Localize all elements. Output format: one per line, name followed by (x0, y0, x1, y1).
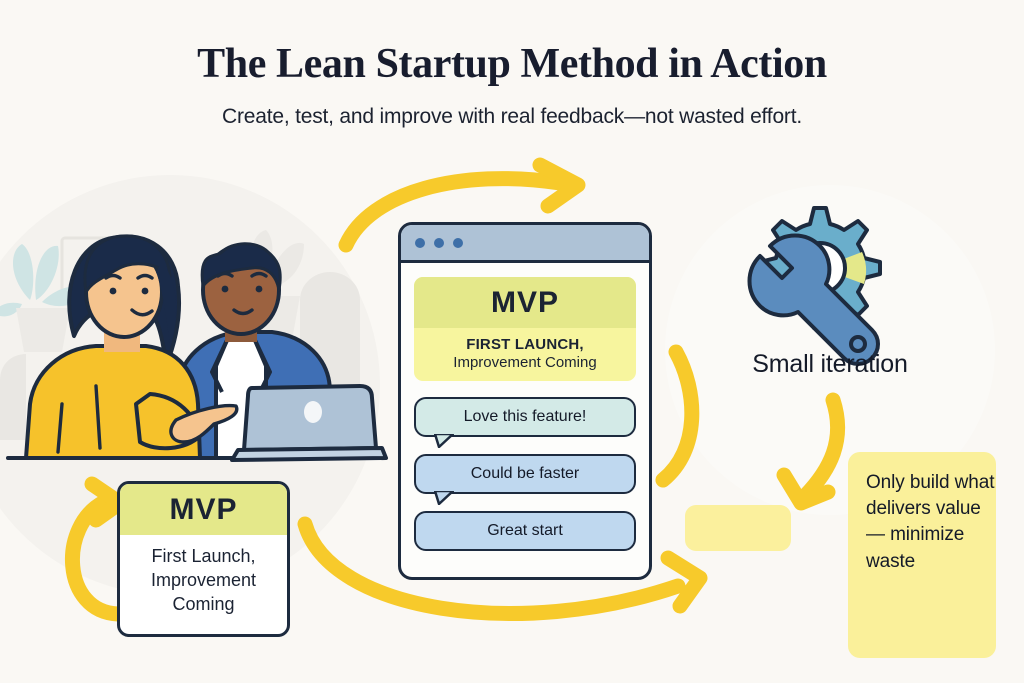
placeholder-yellow-box (685, 505, 791, 551)
gear-wrench-icon (750, 208, 881, 364)
feedback-bubble-list: Love this feature! Could be faster Great… (414, 397, 636, 551)
bubble-tail-icon (434, 434, 454, 448)
infographic-canvas: The Lean Startup Method in Action Create… (0, 0, 1024, 683)
mvp-card-body: First Launch, Improvement Coming (120, 535, 287, 616)
mvp-card-heading: MVP (120, 484, 287, 535)
browser-title-bar (401, 225, 649, 263)
feedback-bubble-text: Love this feature! (464, 408, 587, 425)
window-dot-1 (415, 238, 425, 248)
browser-window-mockup: MVP FIRST LAUNCH, Improvement Coming Lov… (398, 222, 652, 580)
laptop-icon (232, 386, 386, 460)
mvp-banner-line2: Improvement Coming (414, 353, 636, 381)
small-iteration-label: Small iteration (665, 350, 995, 379)
mvp-card: MVP First Launch, Improvement Coming (117, 481, 290, 637)
mvp-banner-line1: FIRST LAUNCH, (414, 328, 636, 353)
mvp-banner: MVP FIRST LAUNCH, Improvement Coming (414, 277, 636, 381)
feedback-bubble: Could be faster (414, 454, 636, 494)
arrow-iteration-to-note (784, 400, 838, 503)
feedback-bubble-text: Could be faster (471, 465, 580, 482)
mvp-banner-heading: MVP (414, 277, 636, 328)
window-dot-2 (434, 238, 444, 248)
window-dot-3 (453, 238, 463, 248)
browser-content: MVP FIRST LAUNCH, Improvement Coming Lov… (401, 263, 649, 551)
bubble-tail-icon (434, 491, 454, 505)
feedback-bubble: Great start (414, 511, 636, 551)
note-box: Only build what delivers value— minimize… (848, 452, 996, 658)
feedback-bubble: Love this feature! (414, 397, 636, 437)
arrow-loop-to-mvp-card (72, 484, 120, 614)
feedback-bubble-text: Great start (487, 522, 563, 539)
